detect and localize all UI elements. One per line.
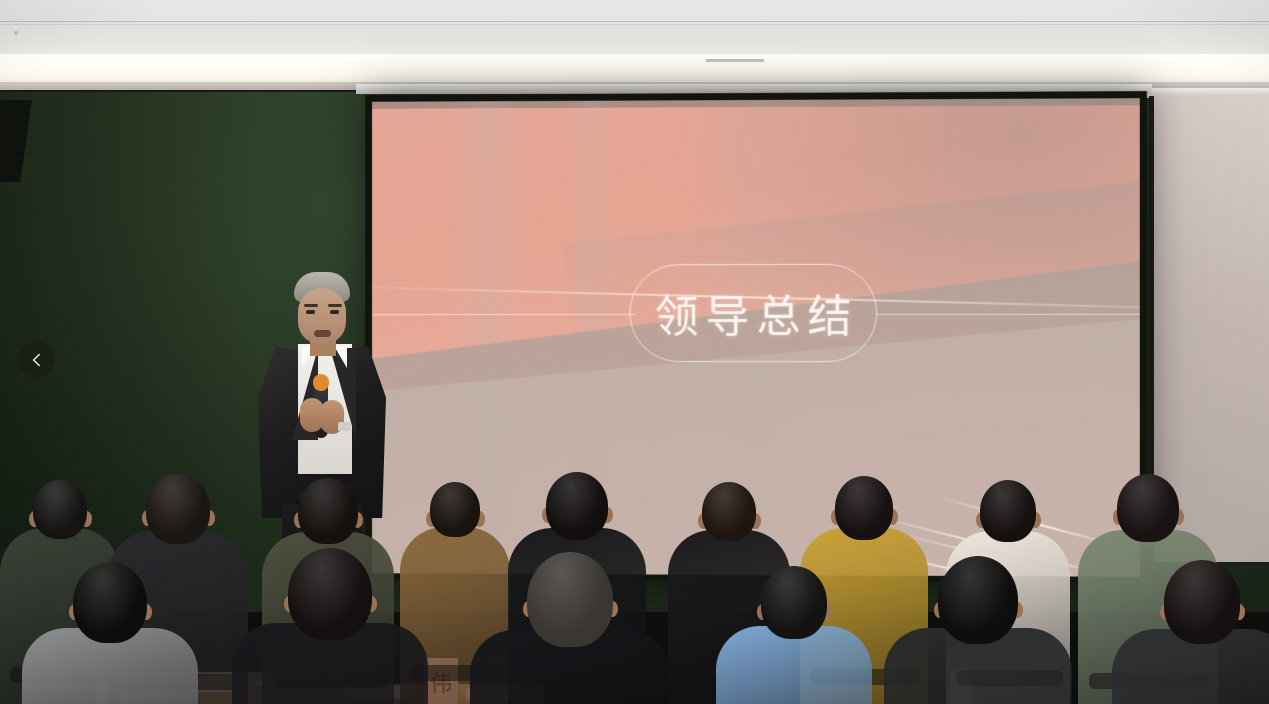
attendee-head [146,474,210,544]
attendee-head [288,548,372,640]
presenter-mouth [314,330,331,337]
attendee-head [761,566,827,639]
presenter-eyebrow-left [304,304,318,307]
ceiling-seam [0,24,1269,25]
slide-rule-right [877,314,1140,315]
attendee-head [33,480,87,539]
slide-title-pill: 领导总结 [629,264,877,362]
audience [0,430,1269,704]
attendee-head [298,478,358,544]
ceiling-light [0,54,1269,82]
slide-rule-left [372,314,635,315]
ceiling-seam [0,21,1269,22]
microphone-head [313,374,329,391]
attendee-head [980,480,1036,542]
chevron-left-icon [30,353,44,367]
ceiling-fixture-dot [14,31,18,35]
slide-title: 领导总结 [648,281,859,345]
attendee-head [1117,474,1179,542]
attendee-head [546,472,608,540]
attendee-head [73,562,147,643]
attendee-head [938,556,1018,644]
attendee-head [430,482,480,537]
attendee-head [527,552,613,647]
presentation-photo: 领导总结 伟 [0,0,1269,704]
attendee-head [835,476,893,540]
light-fixture-label [706,59,764,62]
presenter-eyebrow-right [328,304,342,307]
prev-image-button[interactable] [18,341,55,378]
attendee-head [1164,560,1240,644]
attendee-head [702,482,756,541]
presenter-eye-right [330,310,339,314]
presenter-eye-left [306,310,315,314]
